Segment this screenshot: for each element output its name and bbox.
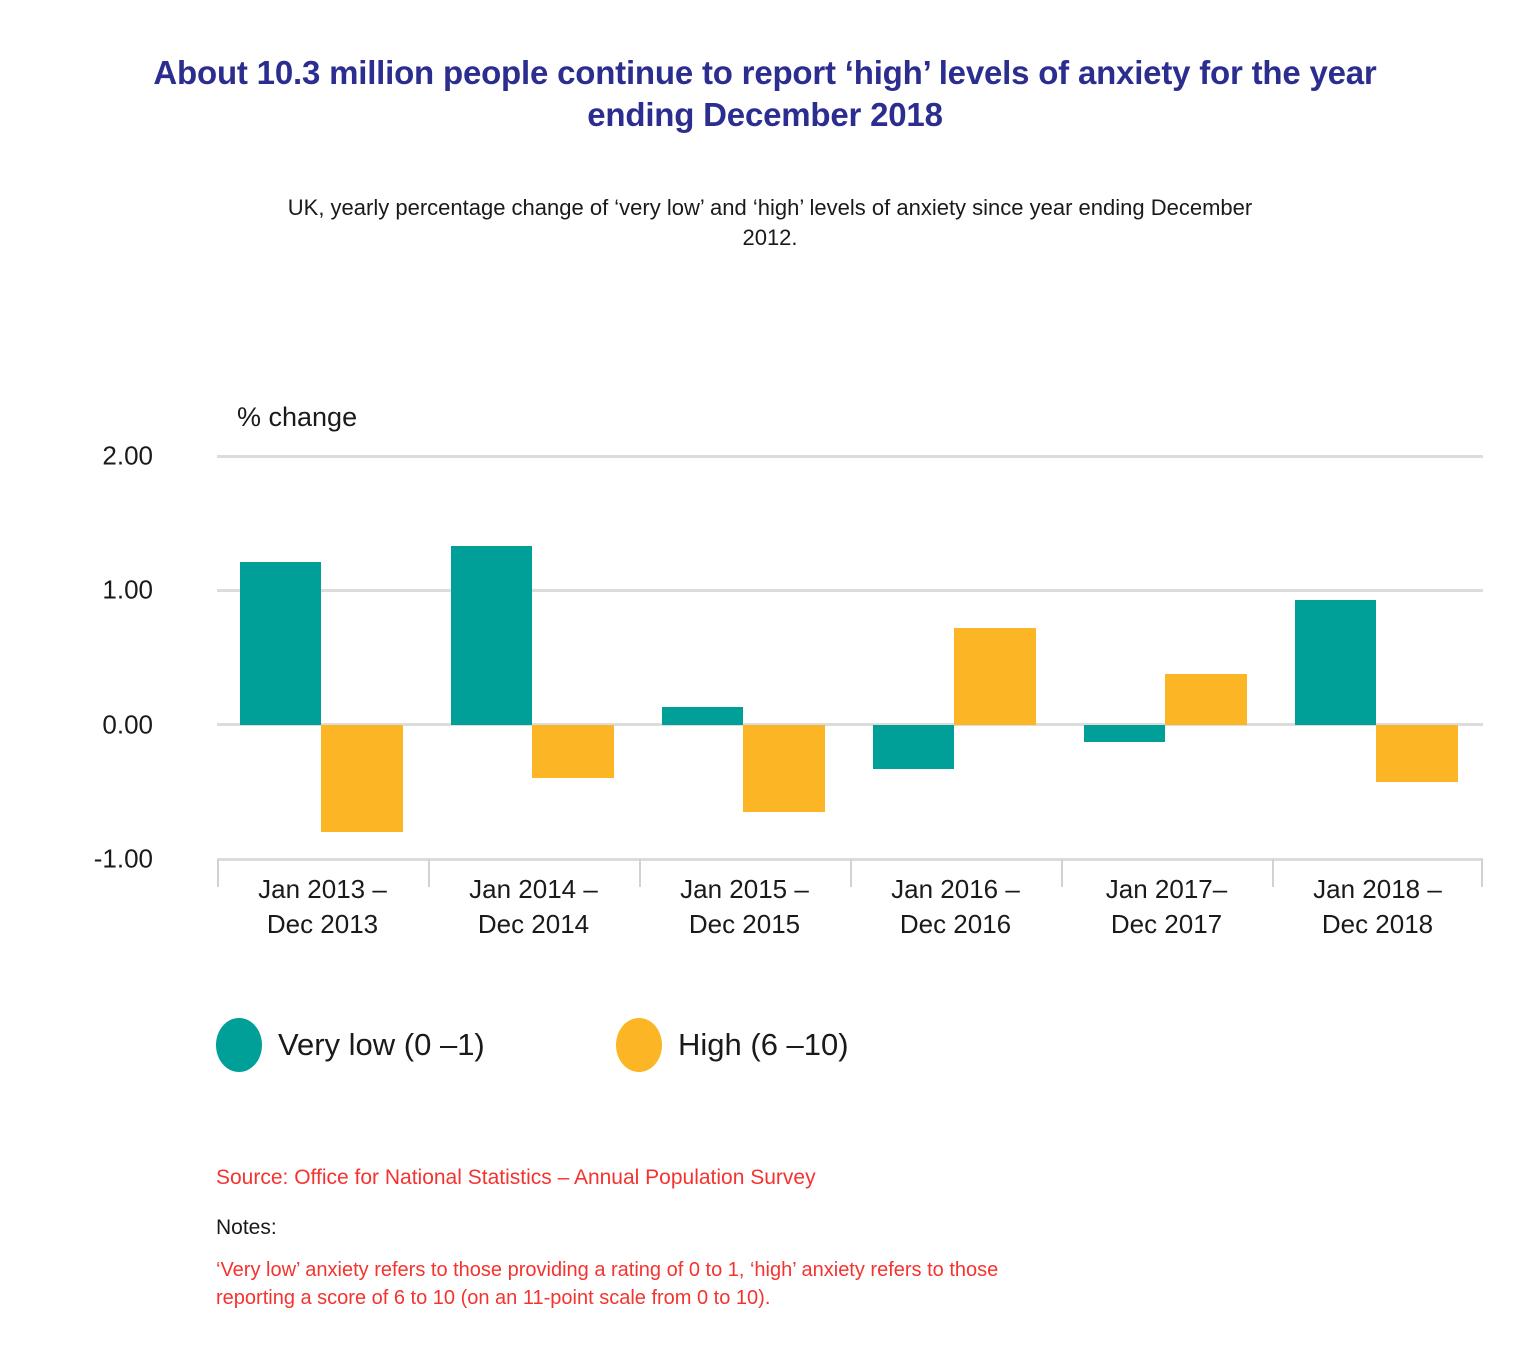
legend-item-label: Very low (0 –1) [278, 1027, 485, 1063]
bar-high[interactable] [532, 725, 613, 779]
x-axis-category-label: Jan 2016 – Dec 2016 [850, 872, 1061, 941]
x-axis-category-label: Jan 2014 – Dec 2014 [428, 872, 639, 941]
bar-very-low[interactable] [1084, 725, 1165, 742]
bar-very-low[interactable] [1295, 600, 1376, 725]
legend-item[interactable]: High (6 –10) [616, 1018, 849, 1072]
bar-high[interactable] [743, 725, 824, 812]
y-axis-tick-label: 1.00 [33, 575, 153, 606]
bar-high[interactable] [1376, 725, 1457, 783]
y-axis-unit-label: % change [237, 402, 357, 433]
bar-very-low[interactable] [873, 725, 954, 769]
x-axis-category-label: Jan 2015 – Dec 2015 [639, 872, 850, 941]
bar-high[interactable] [1165, 674, 1246, 725]
bar-group [1061, 456, 1272, 859]
bar-very-low[interactable] [240, 562, 321, 725]
bar-group [850, 456, 1061, 859]
bar-group [217, 456, 428, 859]
bar-very-low[interactable] [451, 546, 532, 725]
legend-swatch-high [616, 1018, 662, 1072]
notes-body: ‘Very low’ anxiety refers to those provi… [216, 1256, 1036, 1313]
y-axis-tick-label: 2.00 [33, 441, 153, 472]
bar-high[interactable] [321, 725, 402, 832]
source-note: Source: Office for National Statistics –… [216, 1166, 816, 1190]
x-axis-category-label: Jan 2013 – Dec 2013 [217, 872, 428, 941]
legend-item[interactable]: Very low (0 –1) [216, 1018, 485, 1072]
legend-swatch-very-low [216, 1018, 262, 1072]
bar-group [428, 456, 639, 859]
x-axis-category-label: Jan 2018 – Dec 2018 [1272, 872, 1483, 941]
bar-high[interactable] [954, 628, 1035, 725]
bar-group [639, 456, 850, 859]
anxiety-percentage-change-bar-chart: % change 2.001.000.00-1.00 Jan 2013 – De… [0, 0, 1530, 1362]
y-axis-tick-label: -1.00 [33, 844, 153, 875]
x-axis: Jan 2013 – Dec 2013Jan 2014 – Dec 2014Ja… [217, 859, 1483, 949]
x-axis-category-label: Jan 2017– Dec 2017 [1061, 872, 1272, 941]
bar-very-low[interactable] [662, 707, 743, 724]
notes-heading: Notes: [216, 1216, 277, 1240]
y-axis-tick-label: 0.00 [33, 709, 153, 740]
plot-area: 2.001.000.00-1.00 [217, 456, 1483, 859]
legend-item-label: High (6 –10) [678, 1027, 849, 1063]
bar-group [1272, 456, 1483, 859]
